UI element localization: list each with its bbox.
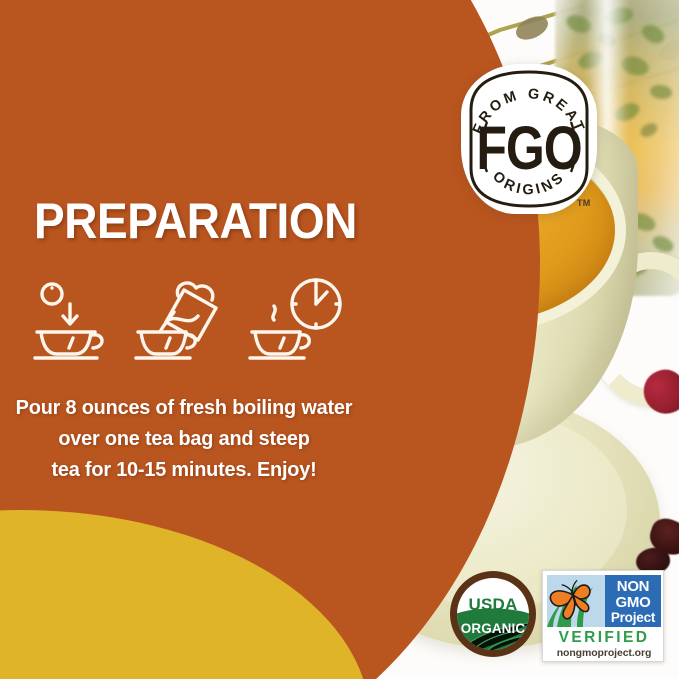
nongmo-line-3: Project bbox=[611, 610, 656, 625]
logo-letters: FGO bbox=[476, 114, 581, 182]
nongmo-line-2: GMO bbox=[616, 594, 652, 611]
nongmo-line-1: NON bbox=[617, 578, 649, 595]
instruction-line-3: tea for 10-15 minutes. Enjoy! bbox=[6, 454, 363, 485]
usda-organic-seal: USDA ORGANIC bbox=[449, 570, 537, 658]
preparation-instructions: Pour 8 ounces of fresh boiling water ove… bbox=[6, 392, 363, 485]
page-title: PREPARATION bbox=[34, 196, 357, 246]
fgo-brand-logo: FROM GREAT ORIGINS FGO TM bbox=[461, 64, 597, 214]
usda-seal-artwork: USDA ORGANIC bbox=[449, 570, 537, 658]
usda-bottom-text: ORGANIC bbox=[461, 621, 526, 636]
pour-water-into-cup-icon bbox=[133, 276, 233, 362]
teabag-drop-into-cup-icon bbox=[18, 276, 118, 362]
non-gmo-project-verified-seal: NON GMO Project VERIFIED nongmoproject.o… bbox=[542, 570, 664, 662]
usda-top-text: USDA bbox=[469, 595, 518, 614]
instruction-line-1: Pour 8 ounces of fresh boiling water bbox=[6, 392, 363, 423]
instruction-line-2: over one tea bag and steep bbox=[6, 423, 363, 454]
nongmo-url: nongmoproject.org bbox=[557, 647, 652, 659]
nongmo-seal-artwork: NON GMO Project VERIFIED nongmoproject.o… bbox=[547, 575, 661, 659]
product-image: PREPARATION bbox=[0, 0, 679, 679]
nongmo-verified-text: VERIFIED bbox=[559, 629, 650, 646]
trademark-symbol: TM bbox=[577, 198, 591, 208]
steep-timer-cup-icon bbox=[248, 276, 348, 362]
logo-artwork: FROM GREAT ORIGINS FGO bbox=[461, 64, 597, 214]
preparation-icons bbox=[18, 276, 348, 362]
